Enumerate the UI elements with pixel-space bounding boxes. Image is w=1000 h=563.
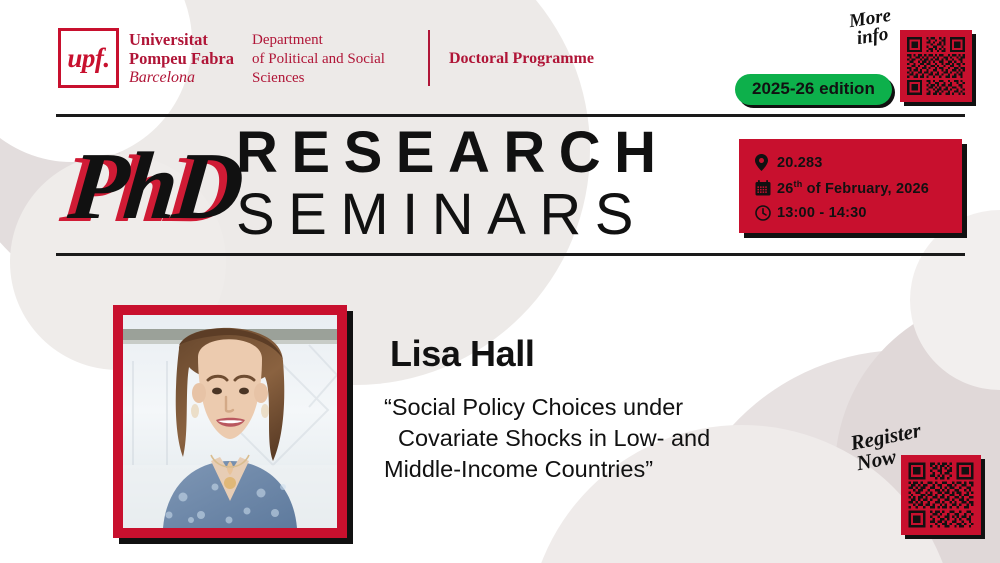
header-divider <box>428 30 430 86</box>
qr-code-more-info[interactable] <box>900 30 972 102</box>
clock-icon <box>755 203 777 222</box>
title-word-research: RESEARCH <box>236 124 670 182</box>
department-line3: Sciences <box>252 69 424 88</box>
department-name: Department of Political and Social Scien… <box>252 31 424 89</box>
upf-logo-mark: upf. <box>67 45 109 72</box>
qr-code-register[interactable] <box>901 455 981 535</box>
speaker-photo <box>123 315 337 528</box>
info-date-text: 26th of February, 2026 <box>777 179 929 197</box>
department-line2: of Political and Social <box>252 50 424 69</box>
seminar-poster: upf. Universitat Pompeu Fabra Barcelona … <box>0 0 1000 563</box>
speaker-name: Lisa Hall <box>390 334 534 374</box>
university-name-line1: Universitat <box>129 30 234 49</box>
poster-header: upf. Universitat Pompeu Fabra Barcelona … <box>0 0 1000 115</box>
title-word-seminars: SEMINARS <box>236 186 647 244</box>
talk-title: “Social Policy Choices under Covariate S… <box>384 392 814 485</box>
edition-badge: 2025-26 edition <box>735 74 892 105</box>
qr-code-register-icon <box>906 460 976 530</box>
info-row-time: 13:00 - 14:30 <box>755 200 962 225</box>
speaker-photo-frame <box>113 305 347 538</box>
info-location-text: 20.283 <box>777 155 823 171</box>
info-date-rest: of February, 2026 <box>802 180 929 196</box>
programme-label: Doctoral Programme <box>449 50 594 68</box>
title-rule-bottom <box>56 253 965 256</box>
university-name-line2: Pompeu Fabra <box>129 49 234 68</box>
upf-logo: upf. <box>58 28 119 88</box>
phd-script-word: PhD PhD <box>57 126 247 246</box>
calendar-icon <box>755 178 777 197</box>
talk-title-line1: “Social Policy Choices under <box>384 392 814 423</box>
department-line1: Department <box>252 31 424 50</box>
phd-script-main: PhD <box>64 126 246 246</box>
info-row-location: 20.283 <box>755 150 962 175</box>
info-time-text: 13:00 - 14:30 <box>777 205 867 221</box>
info-row-date: 26th of February, 2026 <box>755 175 962 200</box>
university-name-line3: Barcelona <box>129 69 234 88</box>
speaker-portrait-image <box>123 315 337 528</box>
university-name: Universitat Pompeu Fabra Barcelona <box>129 30 234 88</box>
info-date-day: 26 <box>777 180 794 196</box>
location-pin-icon <box>755 153 777 172</box>
title-rule-top <box>56 114 965 117</box>
event-info-card: 20.283 26th of Feb <box>739 139 962 233</box>
qr-code-more-info-icon <box>905 35 967 97</box>
talk-title-line2: Covariate Shocks in Low- and <box>384 423 814 454</box>
talk-title-line3: Middle-Income Countries” <box>384 454 814 485</box>
